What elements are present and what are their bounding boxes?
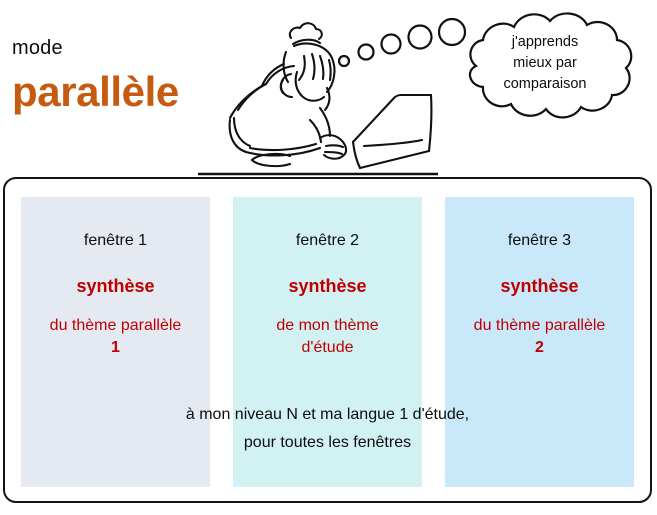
window-3-emphasis: synthèse <box>445 277 634 295</box>
window-2-sub-line-2: d'étude <box>228 337 427 359</box>
window-3-sub-line-1: du thème parallèle <box>440 315 639 337</box>
window-2-emphasis: synthèse <box>233 277 422 295</box>
thought-dot-4 <box>409 26 432 49</box>
thought-line-1: j'apprends <box>470 32 620 53</box>
panel-footer-note: à mon niveau N et ma langue 1 d'étude, p… <box>21 401 634 457</box>
thought-dot-5 <box>439 19 465 45</box>
window-1-header: fenêtre 1 <box>21 233 210 249</box>
window-3-header: fenêtre 3 <box>445 233 634 249</box>
window-2-sub-line-1: de mon thème <box>228 315 427 337</box>
window-1-emphasis: synthèse <box>21 277 210 295</box>
window-1-sub-line-1: du thème parallèle <box>16 315 215 337</box>
footer-line-1: à mon niveau N et ma langue 1 d'étude, <box>21 401 634 429</box>
windows-panel: fenêtre 1 synthèse du thème parallèle 1 … <box>3 177 652 503</box>
thought-dot-3 <box>382 35 401 54</box>
page-title: parallèle <box>12 71 179 113</box>
thought-dot-2 <box>359 45 374 60</box>
thought-line-3: comparaison <box>470 74 620 95</box>
thought-dot-1 <box>339 56 349 66</box>
window-3-sub-line-2: 2 <box>440 337 639 359</box>
window-2-header: fenêtre 2 <box>233 233 422 249</box>
footer-line-2: pour toutes les fenêtres <box>21 429 634 457</box>
window-1-subtitle: du thème parallèle 1 <box>16 315 215 360</box>
window-3-subtitle: du thème parallèle 2 <box>440 315 639 360</box>
mode-label: mode <box>12 38 63 58</box>
header-area: mode parallèle <box>0 0 657 176</box>
window-columns: fenêtre 1 synthèse du thème parallèle 1 … <box>21 197 634 487</box>
window-1-sub-line-2: 1 <box>16 337 215 359</box>
thought-bubble-text: j'apprends mieux par comparaison <box>470 32 620 95</box>
thought-line-2: mieux par <box>470 53 620 74</box>
window-2-subtitle: de mon thème d'étude <box>228 315 427 360</box>
